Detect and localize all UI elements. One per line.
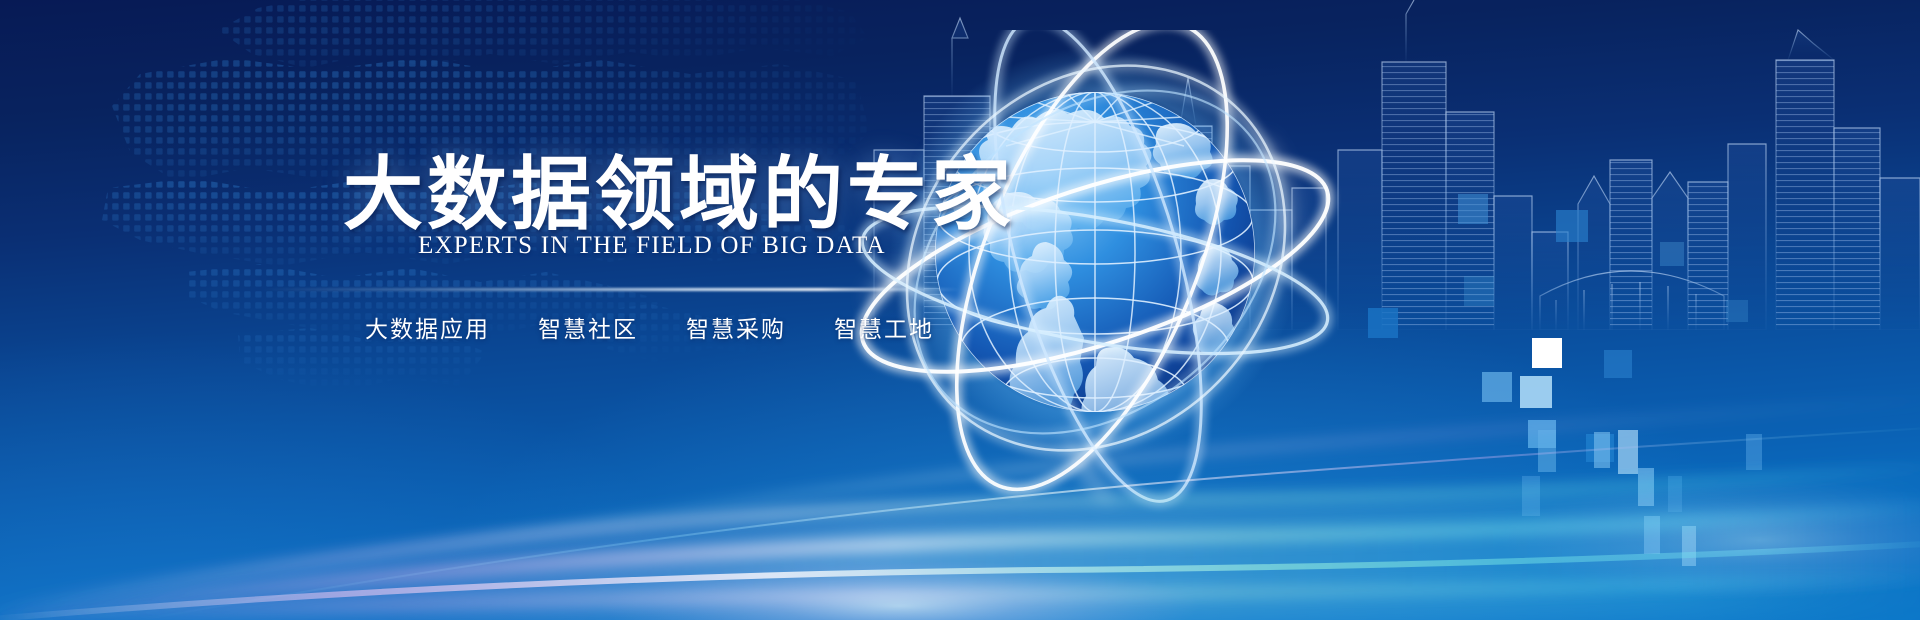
big-data-banner: 大数据领域的专家 EXPERTS IN THE FIELD OF BIG DAT… <box>0 0 1920 620</box>
nav-item-smart-construction-site[interactable]: 智慧工地 <box>834 310 934 344</box>
nav-item-smart-community[interactable]: 智慧社区 <box>538 310 638 344</box>
nav-item-smart-procurement[interactable]: 智慧采购 <box>686 310 786 344</box>
page-subtitle: EXPERTS IN THE FIELD OF BIG DATA <box>418 232 886 260</box>
divider-line <box>260 288 960 291</box>
banner-nav: 大数据应用 智慧社区 智慧采购 智慧工地 <box>365 310 934 344</box>
page-title: 大数据领域的专家 <box>343 152 1015 238</box>
nav-item-big-data-application[interactable]: 大数据应用 <box>365 310 490 344</box>
banner-content: 大数据领域的专家 EXPERTS IN THE FIELD OF BIG DAT… <box>0 0 1000 620</box>
